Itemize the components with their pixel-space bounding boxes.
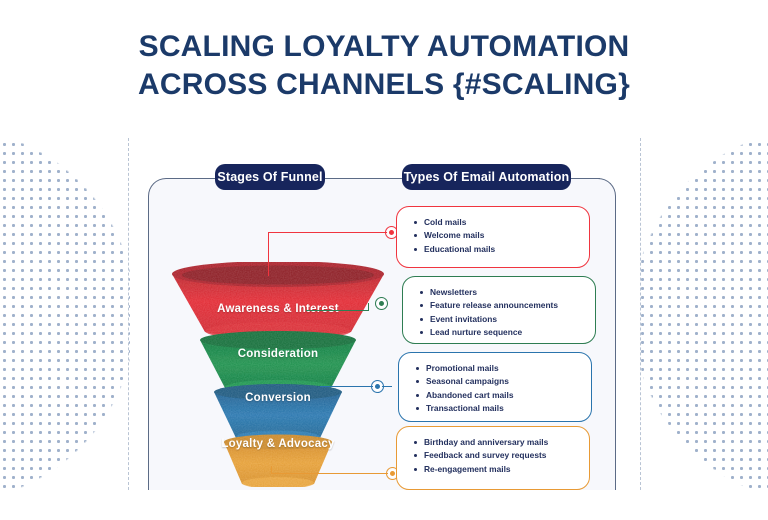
header-badge-types-of-email-automation[interactable]: Types Of Email Automation bbox=[402, 164, 571, 190]
list-item: Feature release announcements bbox=[419, 299, 585, 312]
list-item: Cold mails bbox=[413, 216, 579, 229]
email-type-card-conversion[interactable]: Promotional mails Seasonal campaigns Aba… bbox=[398, 352, 592, 422]
connector-horizontal-consideration bbox=[306, 310, 369, 311]
connector-horizontal-loyalty bbox=[271, 473, 393, 474]
infographic-canvas: SCALING LOYALTY AUTOMATION ACROSS CHANNE… bbox=[0, 0, 768, 520]
dot-pattern-right-decoration bbox=[638, 140, 768, 490]
funnel-segment-awareness bbox=[172, 262, 384, 340]
funnel-label-consideration: Consideration bbox=[168, 348, 388, 360]
connector-vertical-awareness bbox=[268, 233, 269, 276]
list-item: Educational mails bbox=[413, 243, 579, 256]
funnel-label-awareness: Awareness & Interest bbox=[168, 303, 388, 315]
list-item: Promotional mails bbox=[415, 362, 581, 375]
header-rule-left bbox=[166, 178, 216, 179]
list-item: Seasonal campaigns bbox=[415, 375, 581, 388]
email-type-card-awareness[interactable]: Cold mails Welcome mails Educational mai… bbox=[396, 206, 590, 268]
guide-line-right bbox=[640, 138, 641, 490]
list-item: Welcome mails bbox=[413, 229, 579, 242]
list-item: Event invitations bbox=[419, 313, 585, 326]
header-badge-stages-of-funnel[interactable]: Stages Of Funnel bbox=[215, 164, 325, 190]
list-item: Transactional mails bbox=[415, 402, 581, 415]
funnel-graphic bbox=[168, 262, 388, 487]
email-type-card-loyalty[interactable]: Birthday and anniversary mails Feedback … bbox=[396, 426, 590, 490]
title-line-2: ACROSS CHANNELS {#SCALING} bbox=[0, 66, 768, 104]
header-rule-middle bbox=[324, 178, 403, 179]
email-type-list-awareness: Cold mails Welcome mails Educational mai… bbox=[413, 216, 579, 256]
dot-pattern-left-decoration bbox=[0, 140, 130, 490]
list-item: Re-engagement mails bbox=[413, 463, 579, 476]
connector-dot-conversion bbox=[373, 382, 382, 391]
email-type-list-conversion: Promotional mails Seasonal campaigns Aba… bbox=[415, 362, 581, 416]
list-item: Lead nurture sequence bbox=[419, 326, 585, 339]
list-item: Birthday and anniversary mails bbox=[413, 436, 579, 449]
email-type-list-consideration: Newsletters Feature release announcement… bbox=[419, 286, 585, 340]
connector-dot-consideration bbox=[377, 299, 386, 308]
connector-horizontal-awareness bbox=[268, 232, 392, 233]
list-item: Newsletters bbox=[419, 286, 585, 299]
list-item: Abandoned cart mails bbox=[415, 389, 581, 402]
list-item: Feedback and survey requests bbox=[413, 449, 579, 462]
funnel-label-loyalty: Loyalty & Advocacy bbox=[168, 438, 388, 450]
email-type-list-loyalty: Birthday and anniversary mails Feedback … bbox=[413, 436, 579, 476]
title-line-1: SCALING LOYALTY AUTOMATION bbox=[0, 28, 768, 66]
guide-line-left bbox=[128, 138, 129, 490]
page-title: SCALING LOYALTY AUTOMATION ACROSS CHANNE… bbox=[0, 28, 768, 104]
funnel-label-conversion: Conversion bbox=[168, 392, 388, 404]
header-rule-right bbox=[570, 178, 600, 179]
connector-dot-awareness bbox=[387, 228, 396, 237]
email-type-card-consideration[interactable]: Newsletters Feature release announcement… bbox=[402, 276, 596, 344]
